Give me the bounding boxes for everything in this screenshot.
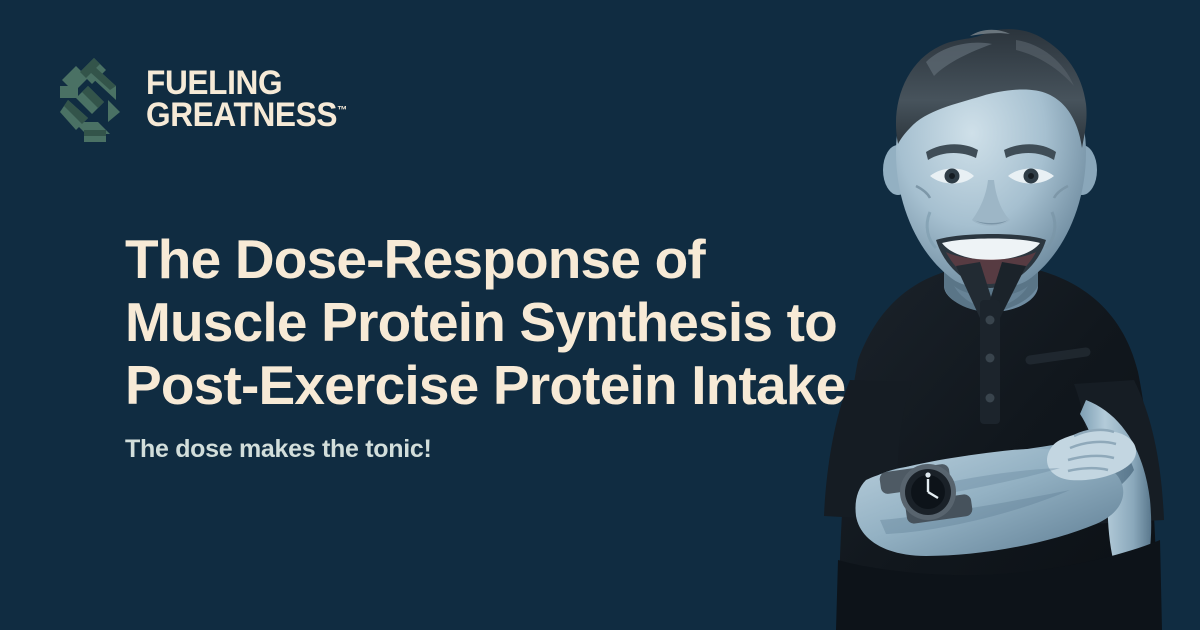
title-line-1: The Dose-Response of xyxy=(125,228,925,291)
trademark-symbol: ™ xyxy=(337,105,347,117)
title-line-3: Post-Exercise Protein Intake xyxy=(125,354,925,417)
fueling-greatness-figure-mark-icon xyxy=(58,56,130,144)
wordmark-line-2-text: GREATNESS xyxy=(146,96,337,134)
brand-wordmark: FUELING GREATNESS™ xyxy=(146,68,362,132)
wordmark-line-2: GREATNESS™ xyxy=(146,100,347,132)
hero-copy: The Dose-Response of Muscle Protein Synt… xyxy=(125,228,925,464)
episode-title: The Dose-Response of Muscle Protein Synt… xyxy=(125,228,925,417)
title-line-2: Muscle Protein Synthesis to xyxy=(125,291,925,354)
podcast-cover-canvas: FUELING GREATNESS™ The Dose-Response of … xyxy=(0,0,1200,630)
episode-subtitle: The dose makes the tonic! xyxy=(125,435,925,464)
brand-logo[interactable]: FUELING GREATNESS™ xyxy=(58,56,362,144)
